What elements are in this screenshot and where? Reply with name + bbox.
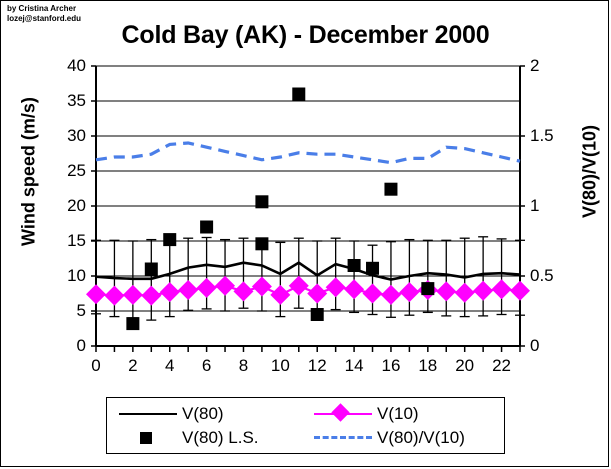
error-bar [349, 241, 359, 312]
data-point-diamond [178, 280, 198, 300]
plot-area [1, 1, 610, 406]
error-bar [312, 241, 322, 316]
data-point-diamond [270, 285, 290, 305]
x-tick-label: 14 [339, 356, 369, 376]
error-bar [515, 240, 525, 315]
data-point-square [126, 317, 139, 330]
data-point-square [292, 88, 305, 101]
legend-label-ratio: V(80)/V(10) [377, 428, 465, 448]
data-point-diamond [197, 278, 217, 298]
error-bar [497, 239, 507, 315]
data-point-diamond [289, 276, 309, 296]
data-point-square [348, 259, 361, 272]
x-tick-label: 12 [302, 356, 332, 376]
chart-svg [1, 1, 610, 401]
x-tick-label: 22 [487, 356, 517, 376]
x-tick-label: 0 [81, 356, 111, 376]
data-point-diamond [399, 282, 419, 302]
data-point-square [163, 233, 176, 246]
x-tick-label: 16 [376, 356, 406, 376]
data-point-diamond [381, 285, 401, 305]
data-point-diamond [436, 281, 456, 301]
data-point-diamond [326, 277, 346, 297]
data-point-square [145, 263, 158, 276]
legend-item-v80-ls: V(80) L.S. [117, 426, 259, 450]
series-line-ratio [96, 143, 520, 163]
x-tick-label: 6 [192, 356, 222, 376]
y-tick-label-right: 1.5 [530, 126, 564, 146]
data-point-diamond [86, 284, 106, 304]
y-tick-label-right: 0 [530, 336, 564, 356]
data-point-diamond [455, 283, 475, 303]
data-point-square [311, 308, 324, 321]
error-bar [368, 245, 378, 314]
data-point-diamond [215, 276, 235, 296]
x-tick-label: 18 [413, 356, 443, 376]
y-tick-label-right: 0.5 [530, 266, 564, 286]
y-tick-label-left: 20 [52, 196, 86, 216]
data-point-diamond [492, 279, 512, 299]
y-tick-label-left: 0 [52, 336, 86, 356]
data-point-diamond [233, 281, 253, 301]
legend-label-v10: V(10) [377, 404, 419, 424]
data-point-square [200, 221, 213, 234]
series-line-v80 [96, 263, 520, 280]
data-point-diamond [252, 277, 272, 297]
x-tick-label: 10 [265, 356, 295, 376]
y-tick-label-left: 5 [52, 301, 86, 321]
x-tick-label: 4 [155, 356, 185, 376]
y-tick-label-right: 1 [530, 196, 564, 216]
error-bar [441, 240, 451, 316]
legend-item-v80: V(80) [117, 402, 224, 426]
data-point-diamond [123, 285, 143, 305]
data-point-diamond [510, 281, 530, 301]
y-tick-label-left: 25 [52, 161, 86, 181]
legend-label-v80: V(80) [182, 404, 224, 424]
data-point-diamond [473, 281, 493, 301]
solid-line-icon [117, 403, 179, 425]
magenta-diamond-line-icon [312, 403, 374, 425]
data-point-diamond [363, 284, 383, 304]
data-point-square [255, 237, 268, 250]
y-tick-label-left: 10 [52, 266, 86, 286]
x-tick-label: 2 [118, 356, 148, 376]
y-tick-label-left: 40 [52, 56, 86, 76]
data-point-diamond [141, 286, 161, 306]
legend-item-v10: V(10) [312, 402, 419, 426]
data-point-diamond [104, 286, 124, 306]
data-point-square [255, 195, 268, 208]
data-point-diamond [160, 282, 180, 302]
error-bar [220, 240, 230, 311]
data-point-square [366, 262, 379, 275]
data-point-square [384, 183, 397, 196]
data-point-square [421, 282, 434, 295]
legend-item-ratio: V(80)/V(10) [312, 426, 465, 450]
error-bar [165, 238, 175, 316]
blue-dashed-line-icon [312, 427, 374, 449]
black-square-icon [117, 427, 179, 449]
y-tick-label-left: 35 [52, 91, 86, 111]
error-bar [202, 238, 212, 309]
data-point-diamond [344, 279, 364, 299]
chart-container: by Cristina Archer lozej@stanford.edu Co… [0, 0, 609, 467]
error-bar [331, 238, 341, 309]
chart-legend: V(80) V(10) V(80) L.S. V(80)/V(10) [106, 397, 505, 454]
data-point-diamond [307, 284, 327, 304]
legend-label-v80-ls: V(80) L.S. [182, 428, 259, 448]
error-bar [275, 242, 285, 316]
x-tick-label: 20 [450, 356, 480, 376]
y-tick-label-left: 30 [52, 126, 86, 146]
x-tick-label: 8 [228, 356, 258, 376]
y-tick-label-left: 15 [52, 231, 86, 251]
y-tick-label-right: 2 [530, 56, 564, 76]
error-bar [294, 238, 304, 308]
